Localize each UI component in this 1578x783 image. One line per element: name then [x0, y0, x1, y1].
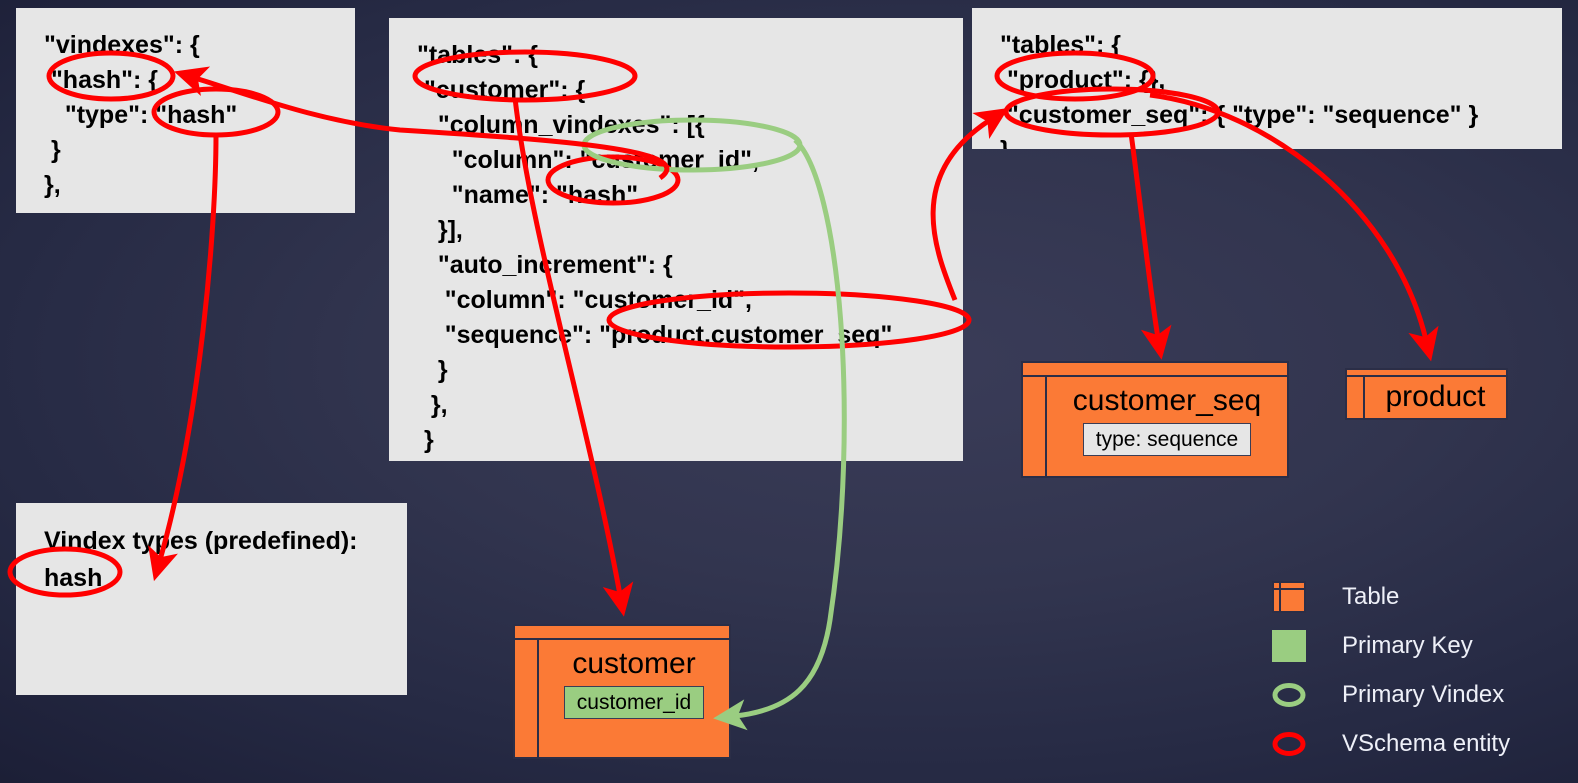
table-body-row: product [1347, 377, 1506, 418]
table-header-band [515, 626, 729, 640]
table-name-label: customer_seq [1073, 383, 1261, 419]
table-gutter [1023, 377, 1047, 476]
table-entity-product: product [1345, 368, 1508, 420]
legend-item-vschema-entity: VSchema entity [1272, 719, 1572, 768]
table-header-band [1023, 363, 1287, 377]
table-content: customer_seq type: sequence [1047, 377, 1287, 476]
tables-product-json-panel: "tables": { "product": {}, "customer_seq… [972, 8, 1562, 149]
legend-label: VSchema entity [1342, 730, 1510, 758]
primary-key-swatch-icon [1272, 630, 1306, 662]
tables-customer-json-panel: "tables": { "customer": { "column_vindex… [389, 18, 963, 461]
legend-item-primary-key: Primary Key [1272, 621, 1572, 670]
vschema-entity-ellipse-icon [1272, 728, 1306, 760]
vindex-types-panel: Vindex types (predefined):hash [16, 503, 407, 695]
legend-item-primary-vindex: Primary Vindex [1272, 670, 1572, 719]
vindex-types-heading: Vindex types (predefined): [44, 527, 358, 555]
legend-label: Primary Vindex [1342, 681, 1504, 709]
vindex-type-hash: hash [44, 564, 102, 592]
arrow-customer-seq-vschema-to-table [1131, 133, 1158, 338]
diagram-canvas: "vindexes": { "hash": { "type": "hash" }… [0, 0, 1578, 783]
table-content: product [1365, 377, 1506, 418]
table-gutter [515, 640, 539, 757]
legend-label: Table [1342, 583, 1399, 611]
table-body-row: customer customer_id [515, 640, 729, 757]
table-content: customer customer_id [539, 640, 729, 757]
table-metadata-type-sequence: type: sequence [1083, 423, 1251, 456]
table-swatch-icon [1272, 581, 1306, 613]
primary-key-column-customer-id: customer_id [564, 686, 704, 719]
table-body-row: customer_seq type: sequence [1023, 377, 1287, 476]
table-gutter [1347, 377, 1365, 418]
table-entity-customer: customer customer_id [513, 624, 731, 759]
legend-label: Primary Key [1342, 632, 1473, 660]
table-header-band [1347, 370, 1506, 377]
vindexes-json-panel: "vindexes": { "hash": { "type": "hash" }… [16, 8, 355, 213]
legend-item-table: Table [1272, 572, 1572, 621]
diagram-legend: Table Primary Key Primary Vindex VSchema… [1272, 572, 1572, 768]
table-name-label: customer [572, 646, 695, 682]
table-entity-customer-seq: customer_seq type: sequence [1021, 361, 1289, 478]
table-name-label: product [1385, 379, 1485, 415]
primary-vindex-ellipse-icon [1272, 679, 1306, 711]
